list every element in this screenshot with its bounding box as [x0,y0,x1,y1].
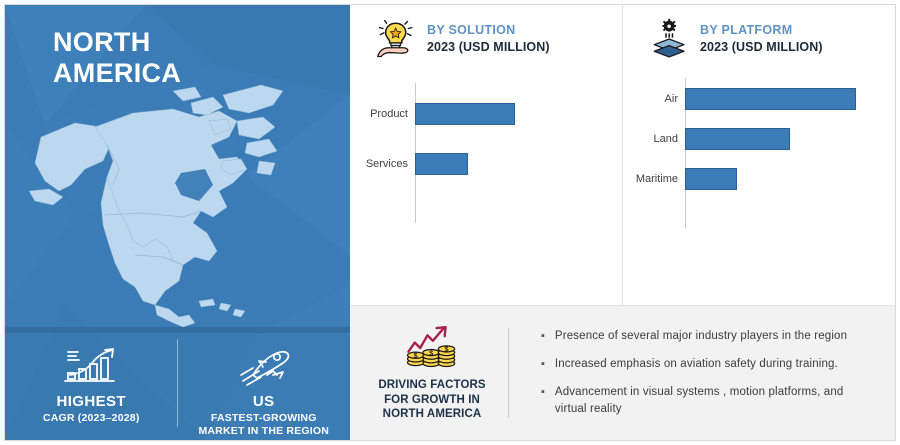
stat-cagr-headline: HIGHEST [57,393,126,410]
bar-air [685,88,856,110]
bar-row: Air [685,88,856,110]
list-item: ▪ Increased emphasis on aviation safety … [541,356,873,373]
page-title: NORTH AMERICA [53,27,181,90]
lightbulb-on-hand-icon [376,18,418,60]
chart-by-solution: BY SOLUTION 2023 (USD MILLION) Product S… [350,5,623,305]
driving-factors-title: DRIVING FACTORS FOR GROWTH IN NORTH AMER… [378,378,485,423]
bar-services [415,153,468,175]
svg-text:$: $ [429,348,433,357]
driving-factors-band: $ $ $ DRIVING FACTORS FOR GROWTH IN NORT… [350,306,895,440]
bar-label: Services [366,158,415,170]
content-side: BY SOLUTION 2023 (USD MILLION) Product S… [350,5,895,440]
north-america-map-icon [23,65,335,327]
bar-label: Land [654,133,685,145]
by-solution-plot: Product Services [350,78,622,268]
by-platform-plot: Air Land Maritime [623,78,895,268]
list-item-text: Presence of several major industry playe… [555,328,847,345]
by-platform-subtitle: 2023 (USD MILLION) [700,39,823,56]
stat-market-sub: FASTEST-GROWING MARKET IN THE REGION [189,412,339,438]
list-item: ▪ Presence of several major industry pla… [541,328,873,345]
bar-row: Land [685,128,790,150]
bar-label: Product [370,108,415,120]
charts-row: BY SOLUTION 2023 (USD MILLION) Product S… [350,5,895,306]
list-item-text: Advancement in visual systems , motion p… [555,384,873,417]
infographic-page: NORTH AMERICA [0,0,900,445]
bar-maritime [685,168,737,190]
by-platform-title: BY PLATFORM [700,22,823,38]
stat-fastest-growing: US FASTEST-GROWING MARKET IN THE REGION [178,333,351,438]
svg-text:$: $ [414,351,418,360]
list-item-text: Increased emphasis on aviation safety du… [555,356,838,373]
chart-by-platform: BY PLATFORM 2023 (USD MILLION) Air Land [623,5,895,305]
bar-row: Maritime [685,168,737,190]
bullet-marker: ▪ [541,384,545,401]
stat-market-headline: US [253,393,275,410]
bullet-marker: ▪ [541,328,545,345]
svg-text:$: $ [444,344,448,353]
region-stats-row: HIGHEST CAGR (2023–2028) [5,333,350,440]
bar-row: Product [415,103,515,125]
by-platform-header-text: BY PLATFORM 2023 (USD MILLION) [700,22,823,55]
growth-bar-chart-icon [60,343,122,389]
by-solution-header-text: BY SOLUTION 2023 (USD MILLION) [427,22,550,55]
bar-label: Air [665,93,685,105]
infographic-frame: NORTH AMERICA [4,4,896,441]
rocket-person-icon [233,343,295,389]
bullet-marker: ▪ [541,356,545,373]
bar-label: Maritime [636,173,685,185]
bar-land [685,128,790,150]
driving-factors-heading-block: $ $ $ DRIVING FACTORS FOR GROWTH IN NORT… [350,324,508,423]
stat-cagr: HIGHEST CAGR (2023–2028) [5,333,178,425]
bar-product [415,103,515,125]
rising-arrow-coins-icon: $ $ $ [403,324,461,372]
gear-layers-icon [649,18,691,60]
by-solution-title: BY SOLUTION [427,22,550,38]
bar-row: Services [415,153,468,175]
by-platform-header: BY PLATFORM 2023 (USD MILLION) [623,5,895,60]
list-item: ▪ Advancement in visual systems , motion… [541,384,873,417]
driving-factors-list: ▪ Presence of several major industry pla… [509,328,895,417]
by-solution-header: BY SOLUTION 2023 (USD MILLION) [350,5,622,60]
by-solution-subtitle: 2023 (USD MILLION) [427,39,550,56]
region-panel: NORTH AMERICA [5,5,350,440]
stat-cagr-sub: CAGR (2023–2028) [43,412,140,425]
